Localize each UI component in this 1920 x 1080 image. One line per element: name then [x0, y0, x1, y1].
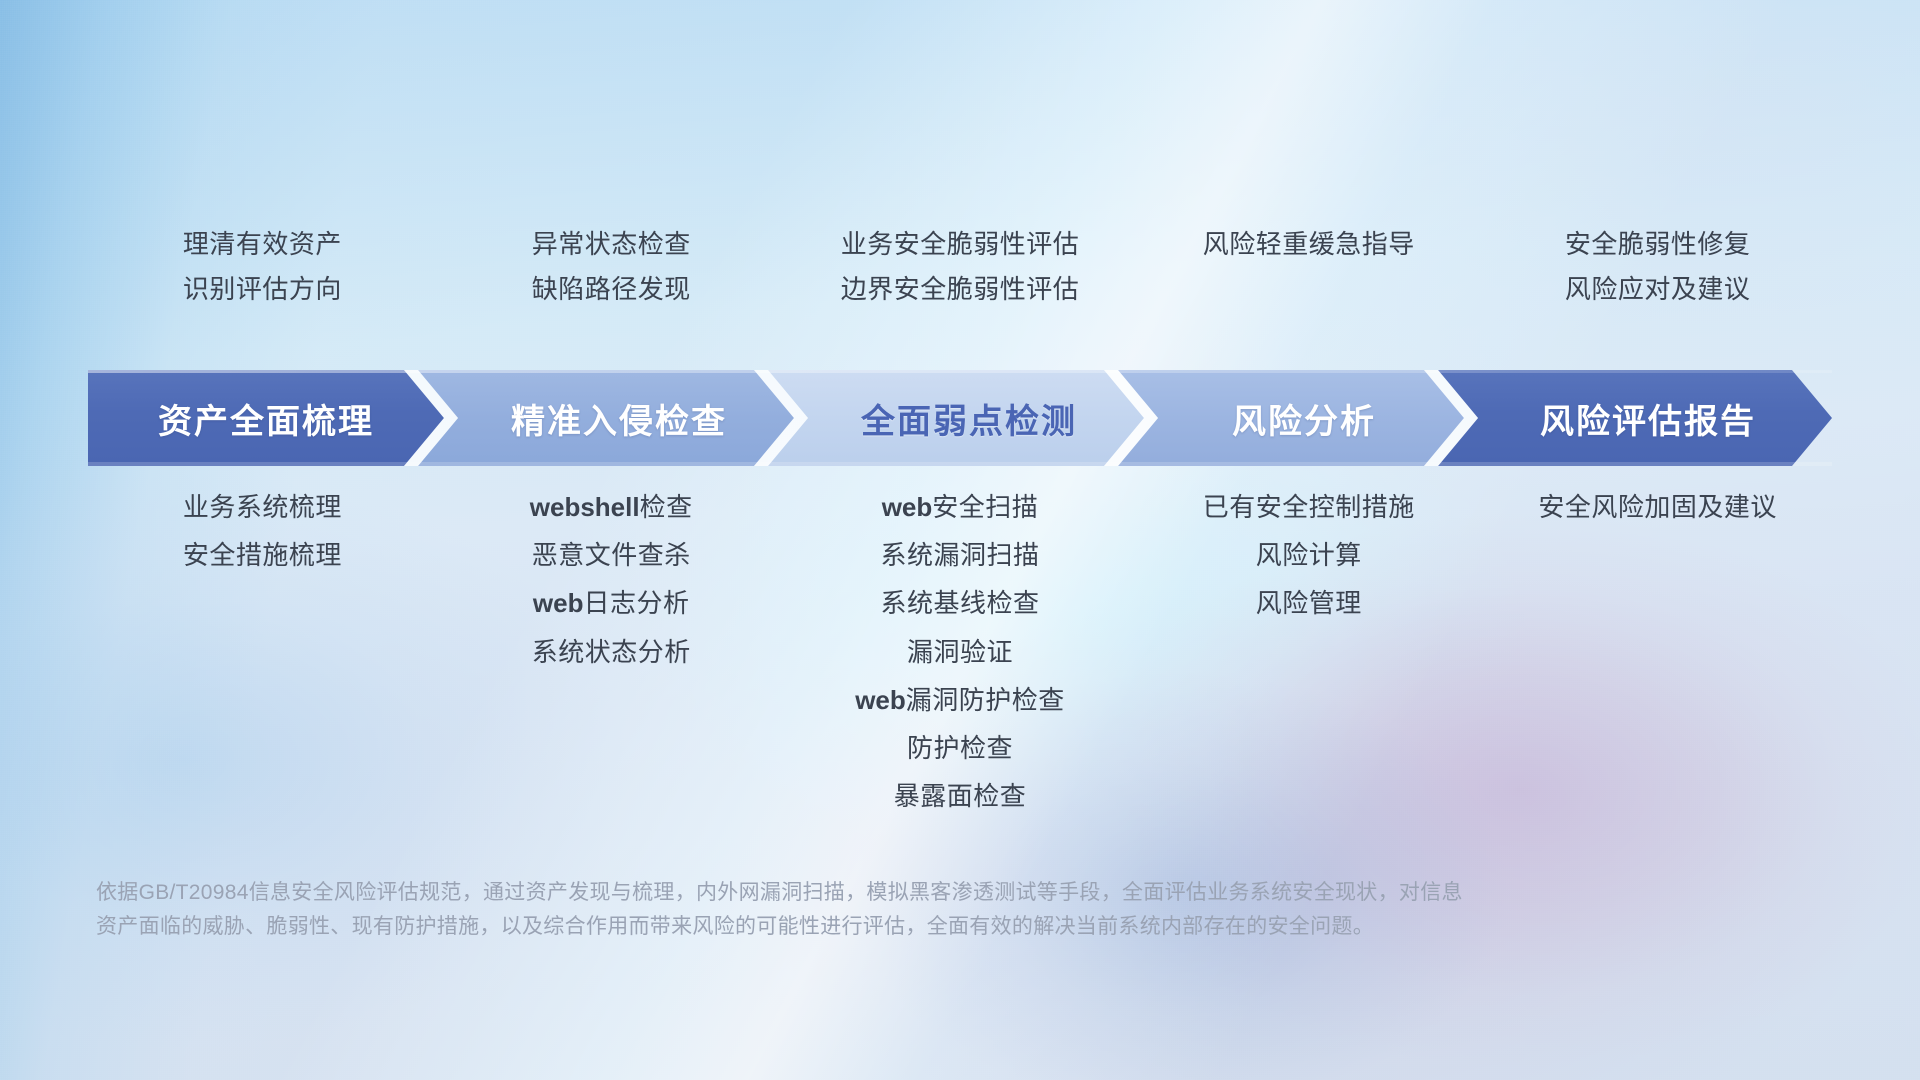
list-item: 安全措施梳理 — [183, 540, 342, 571]
top-note: 风险应对及建议 — [1565, 273, 1751, 306]
items-intrusion-check: webshell检查 恶意文件查杀 web日志分析 系统状态分析 — [437, 492, 786, 812]
top-notes-weakness-detection: 业务安全脆弱性评估 边界安全脆弱性评估 — [786, 228, 1135, 348]
list-item: 恶意文件查杀 — [532, 540, 691, 571]
top-note: 异常状态检查 — [532, 228, 691, 261]
top-notes-risk-analysis: 风险轻重缓急指导 — [1134, 228, 1483, 348]
list-item: 业务系统梳理 — [183, 492, 342, 523]
list-item: web安全扫描 — [882, 492, 1039, 523]
chevron-label-intrusion-check[interactable]: 精准入侵检查 — [444, 370, 794, 466]
list-item: webshell检查 — [530, 492, 693, 523]
process-chevron-band: 资产全面梳理 精准入侵检查 全面弱点检测 风险分析 风险评估报告 — [88, 370, 1832, 466]
list-item: 系统基线检查 — [880, 588, 1039, 619]
list-item: 系统漏洞扫描 — [880, 540, 1039, 571]
list-item: 已有安全控制措施 — [1203, 492, 1415, 523]
top-note: 安全脆弱性修复 — [1565, 228, 1751, 261]
list-item: web漏洞防护检查 — [855, 685, 1065, 716]
footer-line-1: 依据GB/T20984信息安全风险评估规范，通过资产发现与梳理，内外网漏洞扫描，… — [96, 876, 1636, 910]
list-item: 防护检查 — [907, 733, 1013, 764]
top-note: 缺陷路径发现 — [532, 273, 691, 306]
list-item: web日志分析 — [533, 588, 690, 619]
top-note: 边界安全脆弱性评估 — [841, 273, 1080, 306]
chevron-label-asset-inventory[interactable]: 资产全面梳理 — [88, 370, 444, 466]
top-notes-assessment-report: 安全脆弱性修复 风险应对及建议 — [1483, 228, 1832, 348]
top-note: 风险轻重缓急指导 — [1203, 228, 1415, 261]
items-risk-analysis: 已有安全控制措施 风险计算 风险管理 — [1134, 492, 1483, 812]
list-item: 系统状态分析 — [532, 637, 691, 668]
top-notes-intrusion-check: 异常状态检查 缺陷路径发现 — [437, 228, 786, 348]
list-item: 风险管理 — [1256, 588, 1362, 619]
chevron-label-assessment-report[interactable]: 风险评估报告 — [1464, 370, 1832, 466]
footer-line-2: 资产面临的威胁、脆弱性、现有防护措施，以及综合作用而带来风险的可能性进行评估，全… — [96, 910, 1636, 944]
items-asset-inventory: 业务系统梳理 安全措施梳理 — [88, 492, 437, 812]
items-weakness-detection: web安全扫描 系统漏洞扫描 系统基线检查 漏洞验证 web漏洞防护检查 防护检… — [786, 492, 1135, 812]
top-note: 业务安全脆弱性评估 — [841, 228, 1080, 261]
chevron-label-risk-analysis[interactable]: 风险分析 — [1144, 370, 1464, 466]
list-item: 漏洞验证 — [907, 637, 1013, 668]
top-notes-row: 理清有效资产 识别评估方向 异常状态检查 缺陷路径发现 业务安全脆弱性评估 边界… — [88, 228, 1832, 348]
list-item: 暴露面检查 — [894, 781, 1027, 812]
infographic-canvas: 理清有效资产 识别评估方向 异常状态检查 缺陷路径发现 业务安全脆弱性评估 边界… — [0, 0, 1920, 1080]
items-assessment-report: 安全风险加固及建议 — [1483, 492, 1832, 812]
bottom-items-row: 业务系统梳理 安全措施梳理 webshell检查 恶意文件查杀 web日志分析 … — [88, 492, 1832, 812]
top-notes-asset-inventory: 理清有效资产 识别评估方向 — [88, 228, 437, 348]
list-item: 风险计算 — [1256, 540, 1362, 571]
chevron-label-weakness-detection[interactable]: 全面弱点检测 — [794, 370, 1144, 466]
top-note: 识别评估方向 — [183, 273, 342, 306]
top-note: 理清有效资产 — [183, 228, 342, 261]
list-item: 安全风险加固及建议 — [1538, 492, 1777, 523]
footer-description: 依据GB/T20984信息安全风险评估规范，通过资产发现与梳理，内外网漏洞扫描，… — [96, 876, 1636, 944]
